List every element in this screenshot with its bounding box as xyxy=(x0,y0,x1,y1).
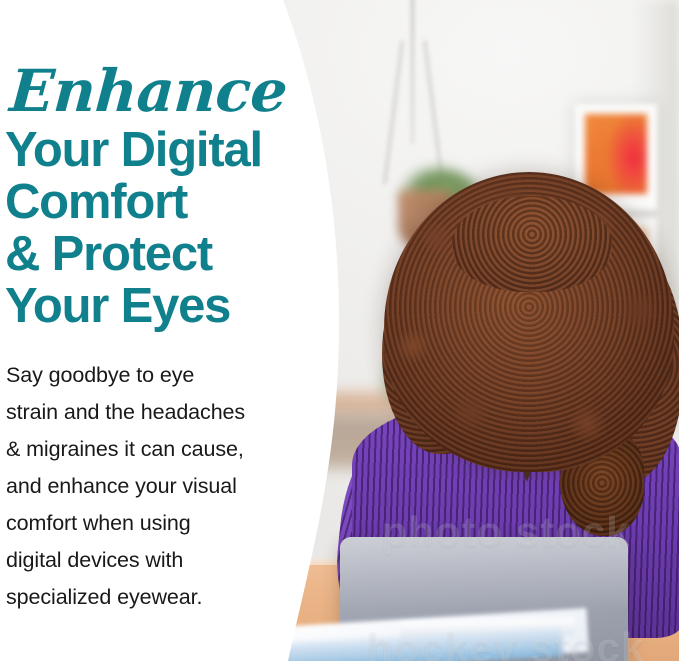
subject-hair-fringe xyxy=(452,196,612,292)
body-line-6: digital devices with xyxy=(6,542,298,579)
headline-line-3: & Protect xyxy=(5,228,262,280)
laptop-screen-sheen xyxy=(340,537,628,610)
body-line-7: specialized eyewear. xyxy=(6,579,298,616)
text-content: Enhance Your Digital Comfort & Protect Y… xyxy=(0,0,300,661)
body-line-4: and enhance your visual xyxy=(6,468,298,505)
headline-line-2: Comfort xyxy=(5,176,262,228)
headline-line-4: Your Eyes xyxy=(5,280,262,332)
body-line-5: comfort when using xyxy=(6,505,298,542)
page-title: Your Digital Comfort & Protect Your Eyes xyxy=(5,124,262,332)
body-copy: Say goodbye to eye strain and the headac… xyxy=(6,357,298,616)
promo-banner: photo stock hockey stock Enhance Your Di… xyxy=(0,0,679,661)
wall-frame-top-art xyxy=(585,114,647,194)
headline-script-word: Enhance xyxy=(8,62,289,120)
headline-line-1: Your Digital xyxy=(5,124,262,176)
planter-cord-icon xyxy=(411,0,414,144)
body-line-2: strain and the headaches xyxy=(6,394,298,431)
body-line-1: Say goodbye to eye xyxy=(6,357,298,394)
body-line-3: & migraines it can cause, xyxy=(6,431,298,468)
